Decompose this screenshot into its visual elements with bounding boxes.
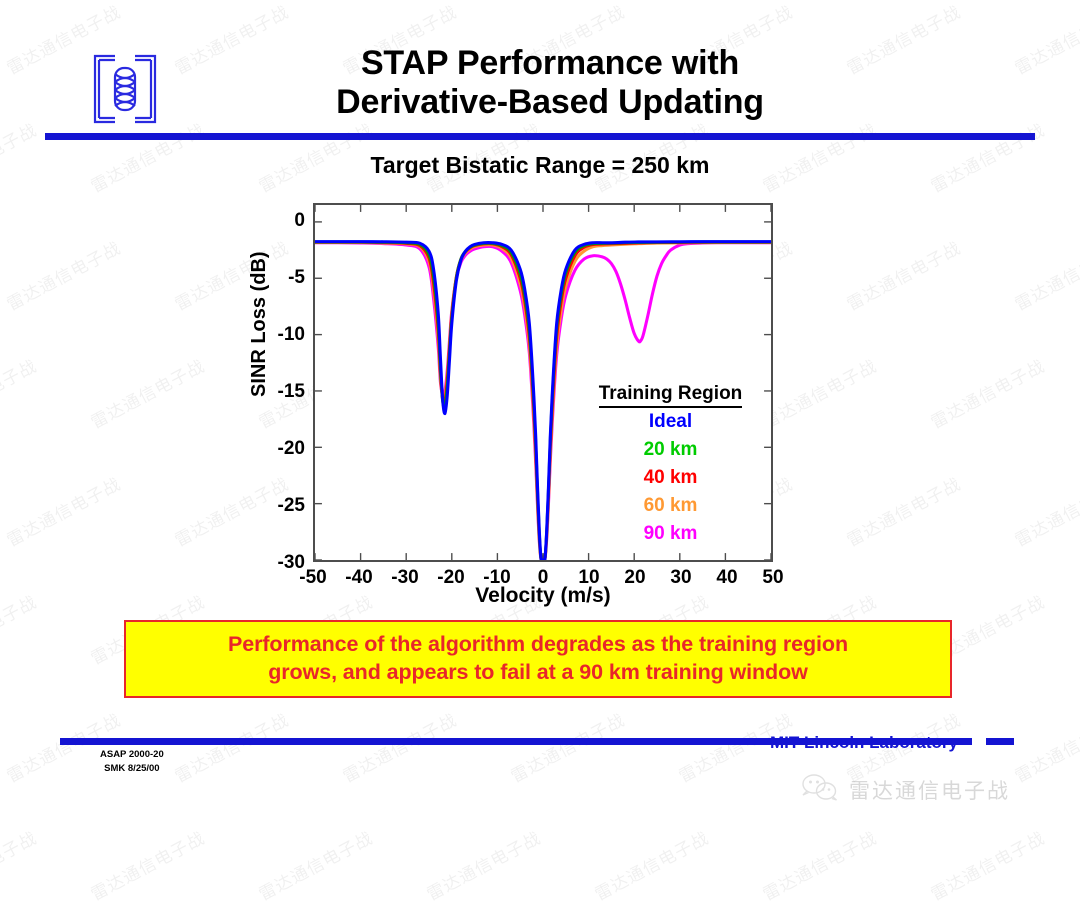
x-axis-label: Velocity (m/s) (313, 584, 773, 608)
document-id: ASAP 2000-20 SMK 8/25/00 (100, 748, 164, 777)
legend-title: Training Region (599, 383, 743, 408)
y-tick-label: -5 (251, 268, 305, 287)
slide-root: STAP Performance with Derivative-Based U… (0, 0, 1080, 834)
watermark-text: 雷达通信电子战 (1010, 706, 1080, 787)
title-line-1: STAP Performance with (200, 44, 900, 83)
watermark-text: 雷达通信电子战 (590, 824, 713, 905)
watermark-text: 雷达通信电子战 (422, 824, 545, 905)
legend-item: Ideal (588, 409, 753, 436)
page-title: STAP Performance with Derivative-Based U… (200, 44, 900, 123)
y-tick-label: -25 (251, 496, 305, 515)
y-tick-label: -15 (251, 382, 305, 401)
callout-box: Performance of the algorithm degrades as… (124, 620, 952, 698)
wechat-icon (800, 772, 840, 807)
watermark-text: 雷达通信电子战 (170, 706, 293, 787)
document-id-line-2: SMK 8/25/00 (100, 762, 164, 776)
watermark-text: 雷达通信电子战 (758, 824, 881, 905)
watermark-text: 雷达通信电子战 (1010, 0, 1080, 79)
y-tick-label: -20 (251, 439, 305, 458)
legend-item: 90 km (588, 521, 753, 548)
legend-item-list: Ideal20 km40 km60 km90 km (588, 409, 753, 548)
wechat-badge: 雷达通信电子战 (800, 772, 1010, 807)
watermark-text: 雷达通信电子战 (338, 706, 461, 787)
watermark-text: 雷达通信电子战 (254, 824, 377, 905)
legend-item: 20 km (588, 437, 753, 464)
watermark-text: 雷达通信电子战 (506, 706, 629, 787)
legend-item: 40 km (588, 465, 753, 492)
mit-lincoln-laboratory-logo (85, 48, 165, 130)
chart-legend: Training Region Ideal20 km40 km60 km90 k… (588, 383, 753, 548)
chart-container: Target Bistatic Range = 250 km SINR Loss… (0, 152, 1080, 612)
legend-item: 60 km (588, 493, 753, 520)
y-tick-label: 0 (251, 211, 305, 230)
wechat-label: 雷达通信电子战 (849, 775, 1010, 805)
title-line-2: Derivative-Based Updating (200, 83, 900, 122)
footer-divider-right (986, 738, 1014, 745)
callout-line-2: grows, and appears to fail at a 90 km tr… (268, 659, 807, 687)
y-tick-label: -10 (251, 325, 305, 344)
callout-line-1: Performance of the algorithm degrades as… (228, 631, 848, 659)
watermark-text: 雷达通信电子战 (926, 824, 1049, 905)
watermark-text: 雷达通信电子战 (86, 824, 209, 905)
document-id-line-1: ASAP 2000-20 (100, 748, 164, 762)
chart-title: Target Bistatic Range = 250 km (240, 152, 840, 179)
organization-label: MIT Lincoln Laboratory (770, 733, 958, 753)
header-divider (45, 133, 1035, 140)
watermark-text: 雷达通信电子战 (0, 824, 40, 905)
